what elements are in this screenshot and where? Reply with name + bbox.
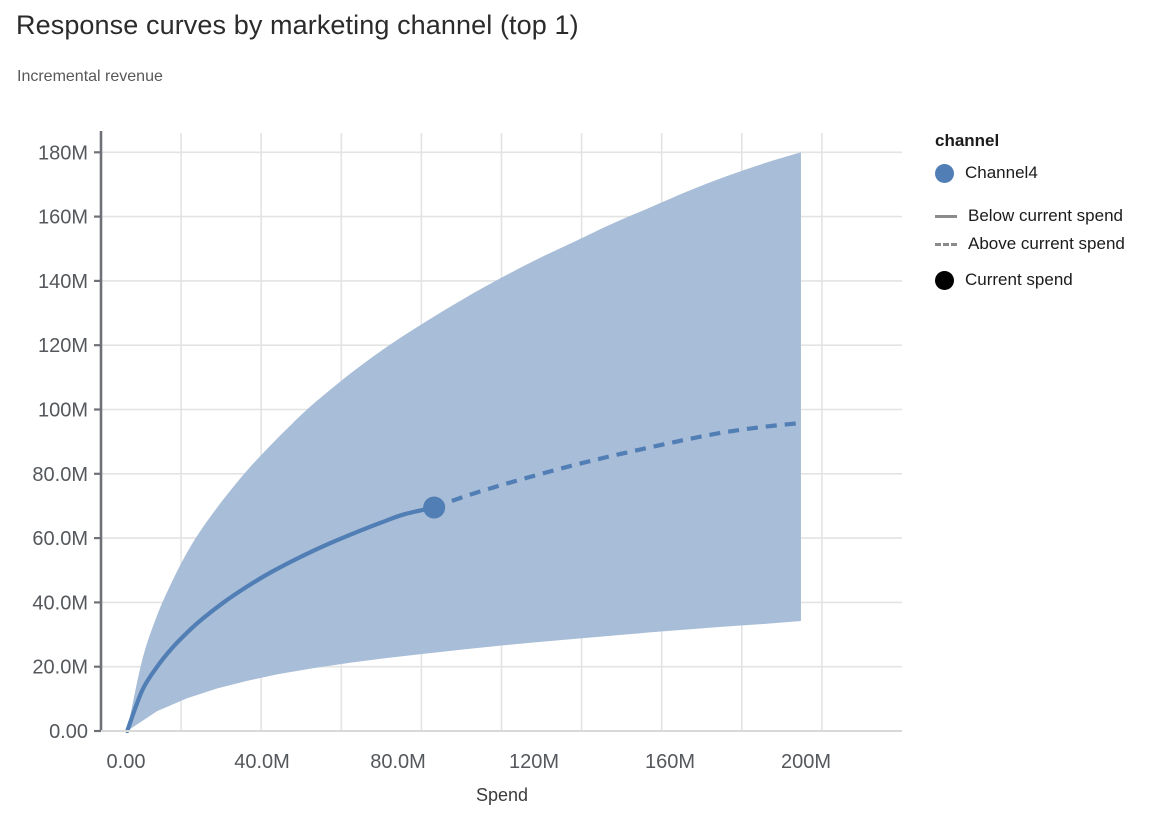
y-tick-label: 100M <box>38 400 88 422</box>
plot-area: 0.0040.0M80.0M120M160M200M 0.0020.0M40.0… <box>0 0 1164 814</box>
current-spend-point[interactable] <box>423 497 445 519</box>
solid-line-swatch-icon <box>935 215 957 218</box>
response-curve-chart: 0.0040.0M80.0M120M160M200M 0.0020.0M40.0… <box>0 0 1164 814</box>
legend-label-channel4: Channel4 <box>965 163 1038 183</box>
y-tick-label: 180M <box>38 142 88 164</box>
y-tick-label: 160M <box>38 207 88 229</box>
y-tick-label: 120M <box>38 335 88 357</box>
x-tick-label: 80.0M <box>370 751 426 773</box>
y-tick-label: 0.00 <box>49 721 88 743</box>
y-tick-label: 60.0M <box>32 528 88 550</box>
legend-label-current: Current spend <box>965 270 1073 290</box>
legend-label-above: Above current spend <box>968 234 1125 254</box>
legend-item-channel4[interactable]: Channel4 <box>935 163 1038 183</box>
legend-item-current-spend[interactable]: Current spend <box>935 270 1073 290</box>
x-tick-label: 40.0M <box>234 751 290 773</box>
x-tick-label: 0.00 <box>107 751 146 773</box>
channel-color-swatch-icon <box>935 164 954 183</box>
x-tick-label: 200M <box>781 751 831 773</box>
y-tick-label: 20.0M <box>32 657 88 679</box>
x-tick-label: 120M <box>509 751 559 773</box>
y-tick-label: 40.0M <box>32 592 88 614</box>
y-tick-label: 80.0M <box>32 464 88 486</box>
legend-item-below-current-spend[interactable]: Below current spend <box>935 206 1123 226</box>
y-tick-label: 140M <box>38 271 88 293</box>
x-axis-title: Spend <box>476 785 528 805</box>
legend-title: channel <box>935 131 999 151</box>
legend-item-above-current-spend[interactable]: Above current spend <box>935 234 1125 254</box>
confidence-band <box>127 152 801 731</box>
current-spend-dot-icon <box>935 271 954 290</box>
chart-page: Response curves by marketing channel (to… <box>0 0 1164 814</box>
x-axis-ticks: 0.0040.0M80.0M120M160M200M <box>107 751 831 773</box>
legend-label-below: Below current spend <box>968 206 1123 226</box>
current-spend-marker[interactable] <box>423 497 445 519</box>
confidence-band-area <box>127 152 801 731</box>
y-axis-ticks: 0.0020.0M40.0M60.0M80.0M100M120M140M160M… <box>32 142 101 743</box>
x-tick-label: 160M <box>645 751 695 773</box>
dashed-line-swatch-icon <box>935 243 957 246</box>
